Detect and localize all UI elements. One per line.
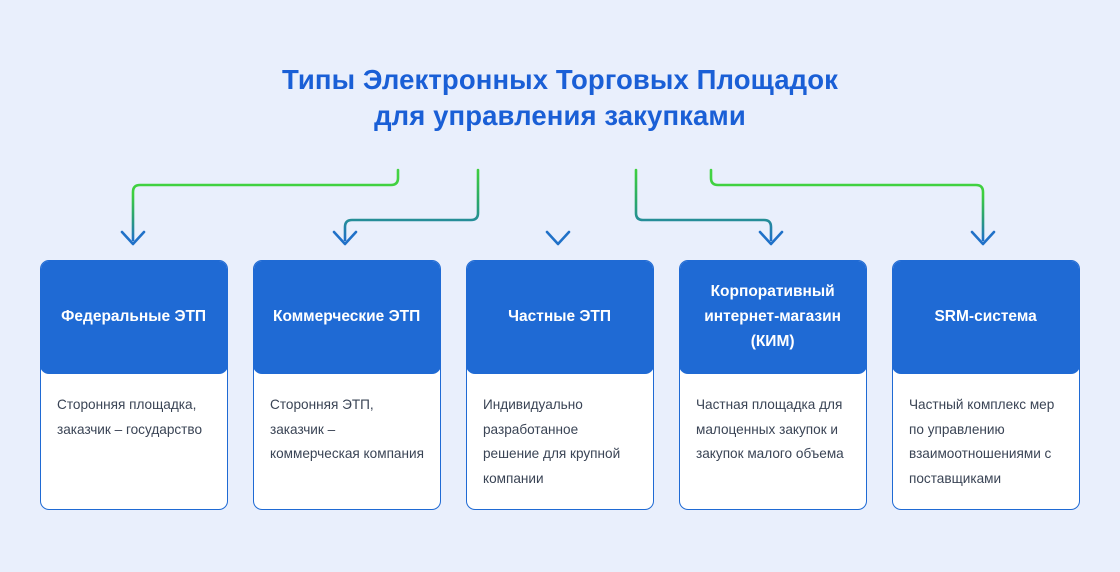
card-commercial-etp[interactable]: Коммерческие ЭТП Сторонняя ЭТП, заказчик… [253,260,441,510]
page-title-line-1: Типы Электронных Торговых Площадок [0,62,1120,98]
card-header: Коммерческие ЭТП [253,260,441,374]
connector-arrow-1 [122,170,398,244]
card-body-text: Частная площадка для малоценных закупок … [696,393,850,467]
card-federal-etp[interactable]: Федеральные ЭТП Сторонняя площадка, зака… [40,260,228,510]
card-body: Индивидуально разработанное решение для … [467,375,653,491]
card-header-label: SRM-система [934,304,1036,329]
card-body-text: Индивидуально разработанное решение для … [483,393,637,491]
card-body-text: Сторонняя ЭТП, заказчик – коммерческая к… [270,393,424,467]
page-title: Типы Электронных Торговых Площадок для у… [0,62,1120,134]
card-header-label: Частные ЭТП [508,304,611,329]
card-header: SRM-система [892,260,1080,374]
card-body: Частный комплекс мер по управлению взаим… [893,375,1079,491]
infographic-root: Типы Электронных Торговых Площадок для у… [0,0,1120,572]
connector-arrow-5 [711,170,994,244]
card-header: Корпоративный интернет-магазин (КИМ) [679,260,867,374]
connector-arrow-4 [636,170,782,244]
card-body-text: Сторонняя площадка, заказчик – государст… [57,393,211,442]
card-header: Федеральные ЭТП [40,260,228,374]
card-srm-system[interactable]: SRM-система Частный комплекс мер по упра… [892,260,1080,510]
card-body: Частная площадка для малоценных закупок … [680,375,866,467]
card-header-label: Коммерческие ЭТП [273,304,420,329]
card-body-text: Частный комплекс мер по управлению взаим… [909,393,1063,491]
card-header-label: Корпоративный интернет-магазин (КИМ) [693,279,853,354]
card-header: Частные ЭТП [466,260,654,374]
card-header-label: Федеральные ЭТП [61,304,206,329]
card-list: Федеральные ЭТП Сторонняя площадка, зака… [0,260,1120,512]
card-body: Сторонняя площадка, заказчик – государст… [41,375,227,442]
card-corporate-internet-shop[interactable]: Корпоративный интернет-магазин (КИМ) Час… [679,260,867,510]
card-private-etp[interactable]: Частные ЭТП Индивидуально разработанное … [466,260,654,510]
page-title-line-2: для управления закупками [0,98,1120,134]
card-body: Сторонняя ЭТП, заказчик – коммерческая к… [254,375,440,467]
connector-arrow-3 [547,170,569,244]
connector-arrow-2 [334,170,478,244]
